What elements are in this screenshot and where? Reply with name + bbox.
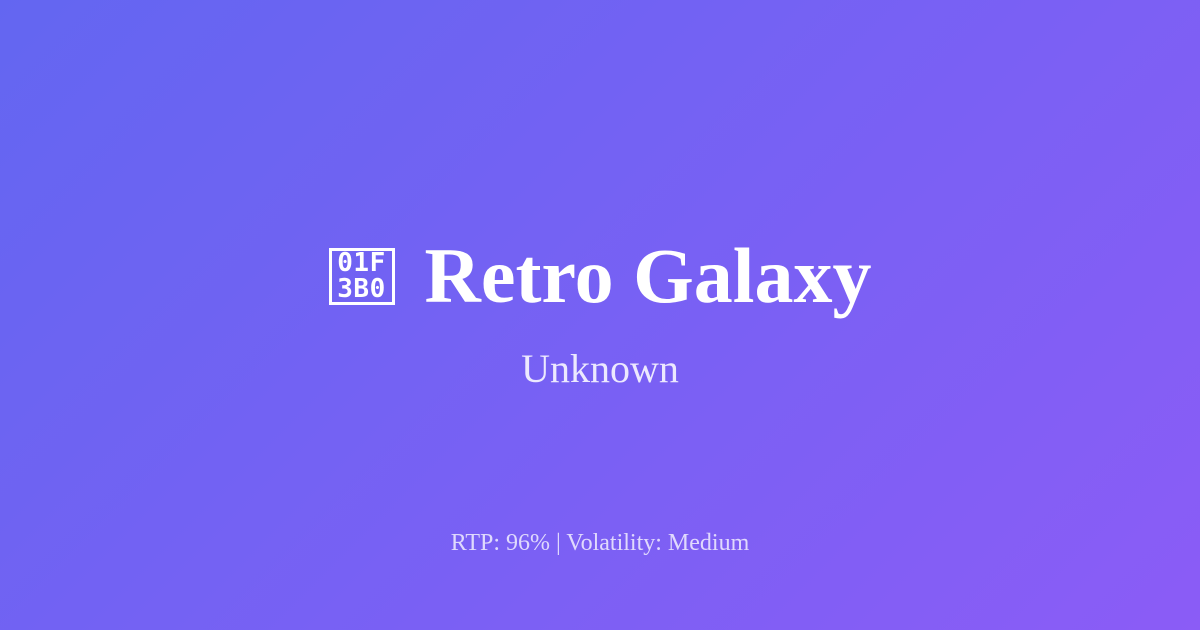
- slot-machine-icon: 01F 3B0: [329, 248, 395, 305]
- game-provider: Unknown: [521, 344, 679, 394]
- title-row: 01F 3B0 Retro Galaxy: [329, 232, 872, 320]
- hero-block: 01F 3B0 Retro Galaxy Unknown: [0, 232, 1200, 394]
- game-title: Retro Galaxy: [425, 232, 872, 320]
- game-og-card: 01F 3B0 Retro Galaxy Unknown RTP: 96% | …: [0, 0, 1200, 630]
- game-meta-line: RTP: 96% | Volatility: Medium: [0, 528, 1200, 558]
- tofu-codepoint-line-1: 01F: [337, 250, 385, 276]
- tofu-codepoint-line-2: 3B0: [337, 276, 385, 302]
